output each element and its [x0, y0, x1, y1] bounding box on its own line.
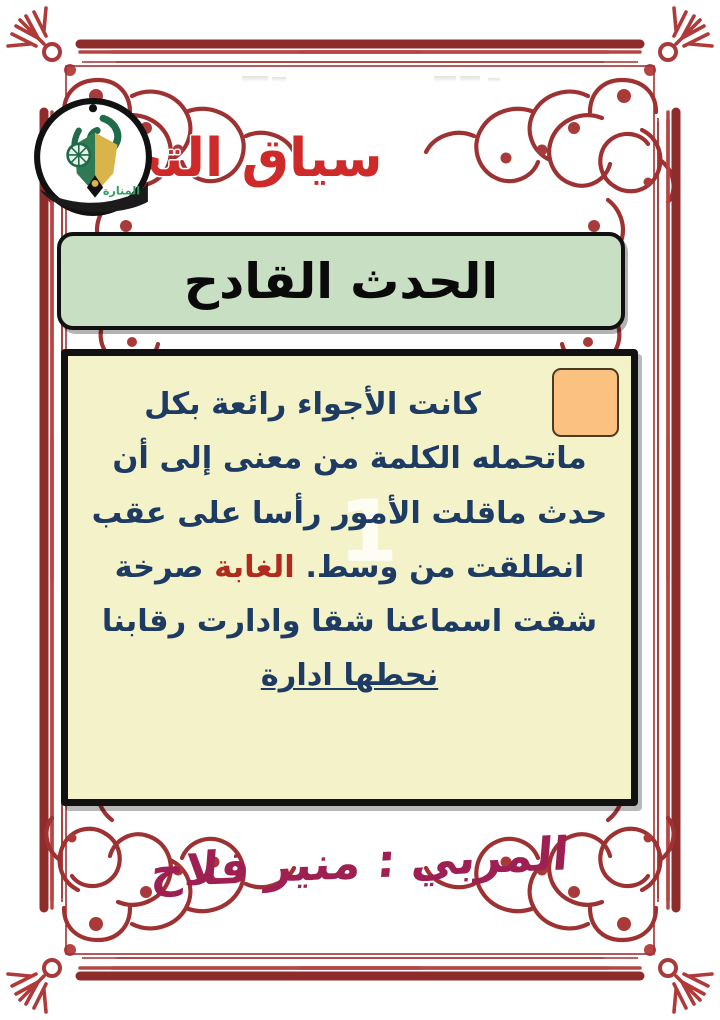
fragment-mark	[272, 77, 286, 82]
section-title-text: الحدث القادح	[184, 257, 498, 306]
body-line: كانت الأجواء رائعة بكل	[90, 378, 539, 432]
body-text-box: 1 كانت الأجواء رائعة بكل ماتحمله الكلمة …	[61, 349, 638, 806]
body-line-before: انطلقت من وسط.	[305, 550, 584, 585]
pen-nib-emblem-logo: المنارة	[32, 96, 154, 218]
fragment-mark	[242, 76, 268, 82]
body-line-after: صرخة	[115, 550, 204, 585]
fragment-mark	[434, 76, 456, 82]
signature-text: المربي : منير فلاح	[42, 822, 677, 902]
section-title-box: الحدث القادح	[57, 232, 625, 330]
poster-content: سياق التحول	[46, 40, 674, 980]
header-row: سياق التحول	[46, 88, 674, 228]
fragment-mark	[460, 76, 480, 82]
body-line: حدث ماقلت الأمور رأسا على عقب	[90, 487, 609, 541]
poster-page: سياق التحول	[0, 0, 720, 1020]
body-line-with-highlight: انطلقت من وسط. الغابة صرخة	[90, 541, 609, 595]
svg-text:المنارة: المنارة	[103, 185, 140, 198]
body-line: نحطها ادارة	[90, 649, 609, 703]
fragment-mark	[488, 78, 500, 82]
highlighted-word: الغابة	[214, 550, 295, 585]
body-paragraph: كانت الأجواء رائعة بكل ماتحمله الكلمة من…	[68, 356, 631, 722]
body-line: ماتحمله الكلمة من معنى إلى أن	[90, 432, 609, 486]
body-line: شقت اسماعنا شقا وادارت رقابنا	[90, 595, 609, 649]
